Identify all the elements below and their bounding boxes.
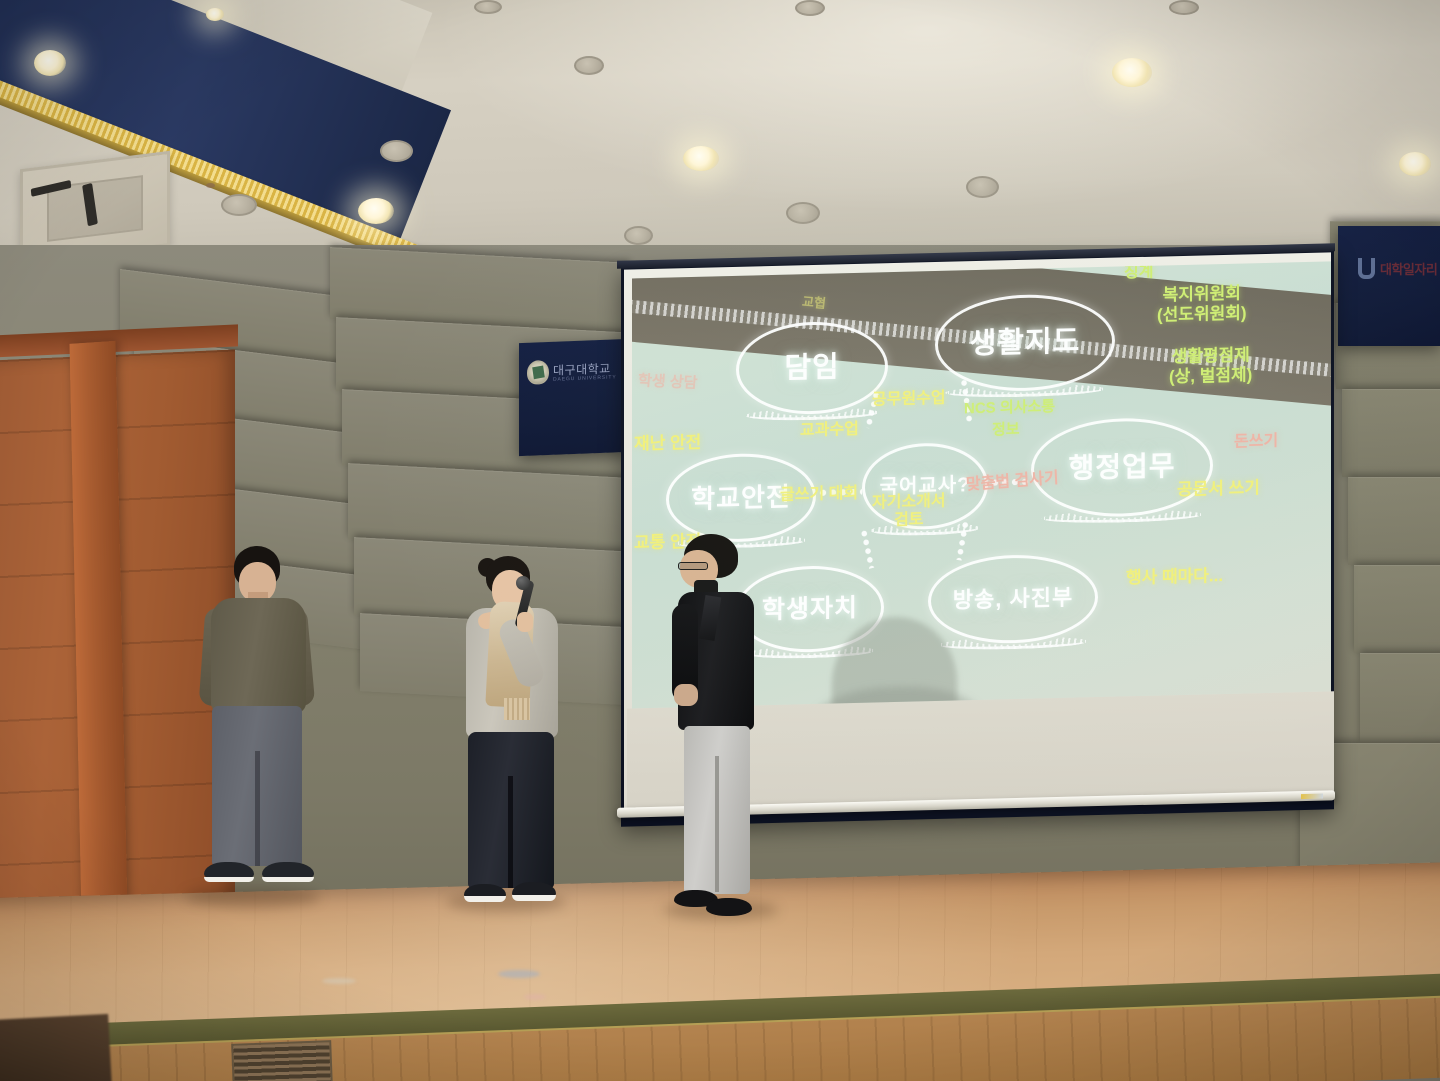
presenter-left [186, 546, 311, 906]
shoe-sole [464, 896, 506, 902]
note-haengsa-ttaemada: 행사 때마다... [1126, 566, 1223, 588]
note-bokji-wiwonhoe: 복지위원회 (선도위원회) [1157, 283, 1247, 324]
ceiling-downlight [1112, 58, 1152, 87]
ceiling-speaker [380, 140, 413, 162]
note-ncs-uisasotong: NCS 의사소통 [964, 398, 1055, 417]
note-saenghwal-pyeongjeom: 생활평점제 (상, 벌점제) [1169, 345, 1252, 386]
ceiling-speaker [221, 194, 257, 216]
ceiling-mark [206, 183, 215, 188]
glasses-icon [678, 562, 708, 570]
ceiling-downlight [1399, 152, 1431, 176]
bubble-damim-label: 담임 [784, 353, 839, 383]
floor-scuff [524, 994, 546, 1000]
ceiling-speaker [786, 202, 820, 224]
acoustic-panel [1348, 477, 1440, 565]
pants-split [508, 776, 513, 888]
ceiling-downlight [683, 146, 719, 171]
note-geulsseugi-daehoe: 글쓰기 대회 [780, 485, 858, 505]
note-jinggye: 징계 [1124, 264, 1153, 283]
note-jagisogaeseo-geomto: 자기소개서 검토 [872, 493, 946, 532]
hand [517, 612, 533, 632]
stage-vent-grille [231, 1040, 333, 1081]
acoustic-panel [1354, 565, 1440, 653]
bubble-haengjeongeommu-label: 행정업무 [1068, 452, 1175, 483]
ceiling-downlight [206, 8, 224, 21]
slide-title-partial: 교협 [801, 295, 826, 312]
bubble-haksaengjachi-label: 학생자치 [762, 595, 858, 622]
banner-right-text-ko: 대학일자리 [1380, 259, 1437, 278]
university-emblem-icon [527, 360, 549, 385]
ceiling-speaker [795, 0, 825, 16]
bubble-saenghwaljido-label: 생활지도 [970, 327, 1081, 359]
ceiling-speaker [966, 176, 999, 198]
acoustic-panel [1360, 653, 1440, 743]
pants-split [715, 756, 719, 892]
presenter-right [666, 534, 770, 924]
screen-roller-tag [1301, 794, 1323, 800]
u-logo-icon [1358, 258, 1375, 279]
scarf-fringe [504, 698, 530, 720]
foreground-dark-corner [0, 1014, 112, 1081]
shoe-sole [204, 877, 254, 882]
floor-scuff [322, 978, 356, 984]
shoe-right [706, 898, 752, 916]
note-gyogwa-sueop: 교과수업 [800, 421, 859, 441]
note-gongmuwon-sueop: 공무원수업 [872, 390, 946, 410]
connector-dots [859, 528, 876, 569]
shoe-sole [262, 877, 314, 882]
note-gongmunseo-sseugi: 공문서 쓰기 [1177, 478, 1260, 500]
note-jaenan-anjeon: 재난 안전 [634, 433, 701, 454]
note-haksaeng-sangdam: 학생 상담 [637, 372, 697, 392]
ceiling-downlight [358, 198, 394, 224]
microphone-head-icon [516, 576, 530, 590]
ceiling-speaker [474, 0, 502, 14]
ceiling-speaker [1169, 0, 1199, 15]
pants-split [255, 751, 260, 866]
ceiling-downlight [34, 50, 66, 76]
bubble-haengjeongeommu: 행정업무 [1031, 416, 1213, 518]
hands-clasped [674, 684, 698, 706]
bubble-hakgyoanjeon-label: 학교안전 [691, 484, 791, 512]
bubble-bangsongsajinbu-label: 방송, 사진부 [953, 587, 1073, 612]
auditorium-photo: 대구대학교 DAEGU UNIVERSITY 대학일자리 교협 담임 생활지도 [0, 0, 1440, 1081]
torso-sweater [211, 598, 306, 713]
banner-left-text-en: DAEGU UNIVERSITY [553, 374, 617, 382]
presenter-center [444, 556, 564, 912]
shoe-sole [512, 895, 556, 901]
note-don-sseugi: 돈쓰기 [1234, 433, 1278, 452]
ceiling-speaker [574, 56, 604, 75]
daegu-university-banner-left: 대구대학교 DAEGU UNIVERSITY [519, 339, 629, 456]
bubble-bangsongsajinbu: 방송, 사진부 [928, 553, 1098, 645]
daegu-university-banner-right: 대학일자리 [1338, 226, 1440, 346]
floor-scuff [498, 970, 540, 978]
ceiling-speaker [624, 226, 653, 245]
note-jeongbo: 정보 [992, 421, 1020, 439]
acoustic-panel [1342, 389, 1440, 477]
